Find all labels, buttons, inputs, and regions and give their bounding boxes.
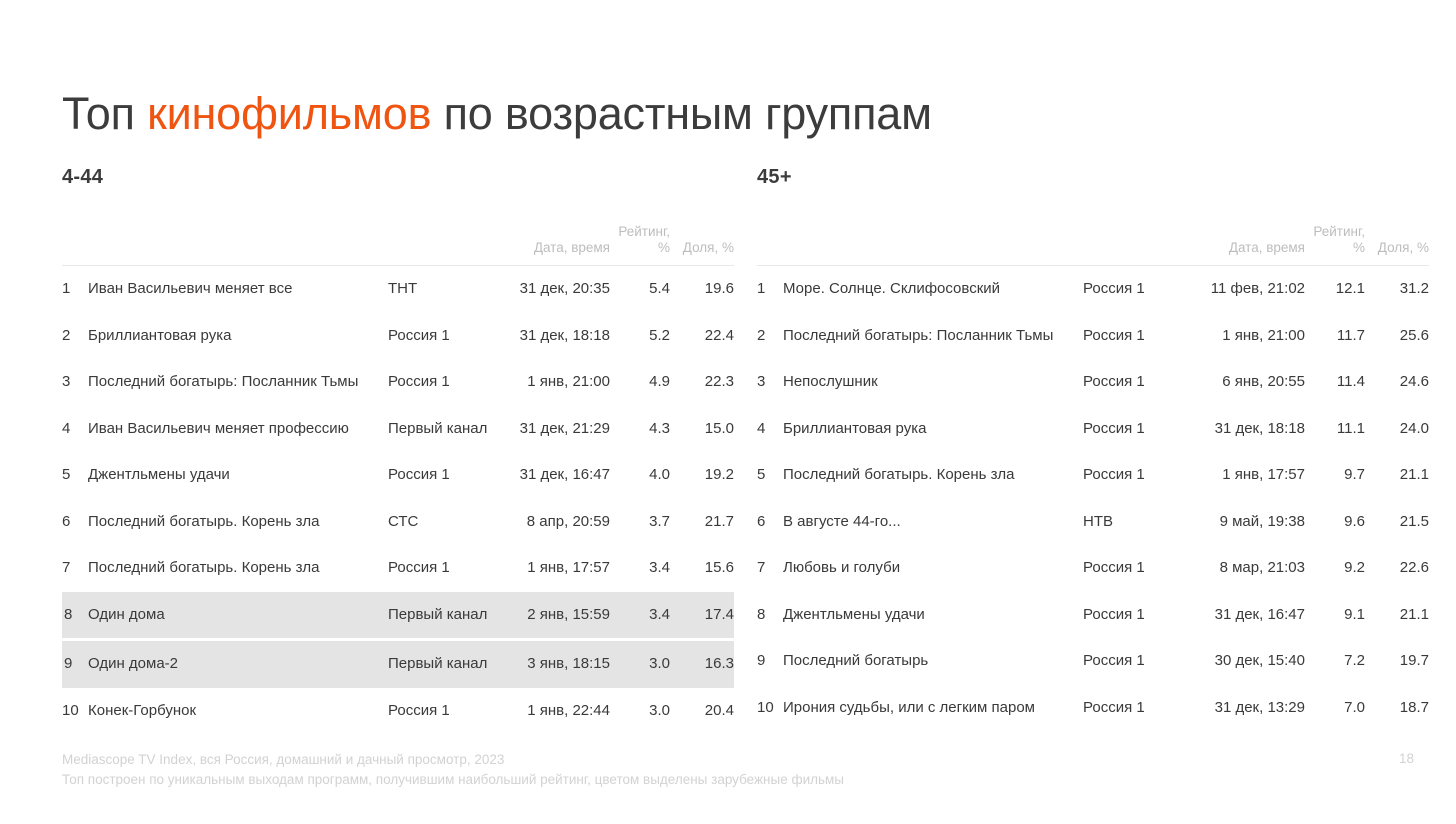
cell-rating: 4.0 (610, 452, 670, 499)
table-header: Дата, время Рейтинг, % Доля, % (62, 224, 734, 266)
cell-rank: 3 (62, 359, 88, 406)
group-label-4-44: 4-44 (62, 166, 720, 188)
cell-date: 31 дек, 18:18 (1201, 406, 1305, 453)
cell-channel: Россия 1 (388, 545, 506, 592)
cell-date: 31 дек, 21:29 (506, 406, 610, 453)
cell-program: Иван Васильевич меняет все (88, 266, 388, 313)
cell-rank: 10 (62, 688, 88, 735)
cell-share: 21.7 (670, 499, 734, 546)
col-header-rank (62, 224, 88, 266)
cell-program: Иван Васильевич меняет профессию (88, 406, 388, 453)
cell-rank: 6 (757, 499, 783, 546)
cell-rating: 7.2 (1305, 638, 1365, 685)
title-accent: кинофильмов (147, 88, 431, 139)
cell-program: Один дома (88, 592, 388, 640)
table-row[interactable]: 5Джентльмены удачиРоссия 131 дек, 16:474… (62, 452, 734, 499)
header-row: Дата, время Рейтинг, % Доля, % (757, 224, 1429, 266)
cell-share: 16.3 (670, 640, 734, 688)
cell-rank: 3 (757, 359, 783, 406)
cell-share: 17.4 (670, 592, 734, 640)
cell-share: 24.6 (1365, 359, 1429, 406)
cell-rank: 2 (62, 313, 88, 360)
top-table-4-44: Дата, время Рейтинг, % Доля, % 1Иван Вас… (62, 224, 734, 734)
cell-rank: 4 (62, 406, 88, 453)
cell-date: 11 фев, 21:02 (1201, 266, 1305, 313)
cell-share: 22.6 (1365, 545, 1429, 592)
col-header-share: Доля, % (670, 224, 734, 266)
table-row[interactable]: 2Бриллиантовая рукаРоссия 131 дек, 18:18… (62, 313, 734, 360)
header-row: Дата, время Рейтинг, % Доля, % (62, 224, 734, 266)
cell-share: 18.7 (1365, 685, 1429, 732)
cell-share: 19.2 (670, 452, 734, 499)
cell-date: 1 янв, 21:00 (1201, 313, 1305, 360)
cell-channel: НТВ (1083, 499, 1201, 546)
cell-channel: Россия 1 (1083, 638, 1201, 685)
table-row[interactable]: 4Иван Васильевич меняет профессиюПервый … (62, 406, 734, 453)
cell-date: 1 янв, 17:57 (1201, 452, 1305, 499)
table-row[interactable]: 1Иван Васильевич меняет всеТНТ31 дек, 20… (62, 266, 734, 313)
cell-channel: Россия 1 (1083, 592, 1201, 639)
cell-share: 24.0 (1365, 406, 1429, 453)
cell-rating: 11.1 (1305, 406, 1365, 453)
table-body: 1Иван Васильевич меняет всеТНТ31 дек, 20… (62, 266, 734, 735)
col-header-rank (757, 224, 783, 266)
cell-rating: 11.7 (1305, 313, 1365, 360)
cell-share: 21.1 (1365, 452, 1429, 499)
cell-date: 1 янв, 21:00 (506, 359, 610, 406)
table-row[interactable]: 6В августе 44-го...НТВ9 май, 19:389.621.… (757, 499, 1429, 546)
table-row[interactable]: 1Море. Солнце. СклифосовскийРоссия 111 ф… (757, 266, 1429, 313)
cell-date: 1 янв, 17:57 (506, 545, 610, 592)
cell-date: 31 дек, 16:47 (1201, 592, 1305, 639)
cell-rank: 9 (62, 640, 88, 688)
cell-rating: 3.4 (610, 545, 670, 592)
col-header-channel (388, 224, 506, 266)
cell-channel: Первый канал (388, 592, 506, 640)
table-row[interactable]: 9Один дома-2Первый канал3 янв, 18:153.01… (62, 640, 734, 688)
table-row[interactable]: 8Джентльмены удачиРоссия 131 дек, 16:479… (757, 592, 1429, 639)
table-row[interactable]: 8Один домаПервый канал2 янв, 15:593.417.… (62, 592, 734, 640)
cell-share: 31.2 (1365, 266, 1429, 313)
cell-share: 15.0 (670, 406, 734, 453)
top-table-45plus: Дата, время Рейтинг, % Доля, % 1Море. Со… (757, 224, 1429, 731)
cell-channel: Россия 1 (1083, 452, 1201, 499)
cell-program: Последний богатырь. Корень зла (88, 545, 388, 592)
cell-channel: Россия 1 (1083, 359, 1201, 406)
cell-share: 21.1 (1365, 592, 1429, 639)
cell-rank: 8 (62, 592, 88, 640)
col-header-program (783, 224, 1083, 266)
cell-program: Любовь и голуби (783, 545, 1083, 592)
cell-rating: 3.4 (610, 592, 670, 640)
cell-rating: 4.3 (610, 406, 670, 453)
table-row[interactable]: 7Любовь и голубиРоссия 18 мар, 21:039.22… (757, 545, 1429, 592)
table-row[interactable]: 3НепослушникРоссия 16 янв, 20:5511.424.6 (757, 359, 1429, 406)
cell-share: 19.6 (670, 266, 734, 313)
cell-rating: 9.6 (1305, 499, 1365, 546)
cell-rating: 3.0 (610, 688, 670, 735)
cell-program: Ирония судьбы, или с легким паром (783, 685, 1083, 732)
cell-share: 20.4 (670, 688, 734, 735)
cell-share: 22.4 (670, 313, 734, 360)
cell-program: Последний богатырь: Посланник Тьмы (88, 359, 388, 406)
cell-program: Последний богатырь (783, 638, 1083, 685)
cell-channel: СТС (388, 499, 506, 546)
cell-date: 30 дек, 15:40 (1201, 638, 1305, 685)
cell-program: Один дома-2 (88, 640, 388, 688)
cell-channel: Россия 1 (388, 452, 506, 499)
table-header: Дата, время Рейтинг, % Доля, % (757, 224, 1429, 266)
group-block-4-44: 4-44 Дата, время Рейтинг, % Доля, % 1Ива… (62, 166, 720, 734)
col-header-share: Доля, % (1365, 224, 1429, 266)
col-header-date: Дата, время (506, 224, 610, 266)
table-row[interactable]: 7Последний богатырь. Корень злаРоссия 11… (62, 545, 734, 592)
cell-date: 8 мар, 21:03 (1201, 545, 1305, 592)
col-header-rating: Рейтинг, % (610, 224, 670, 266)
cell-rank: 5 (757, 452, 783, 499)
cell-rank: 1 (62, 266, 88, 313)
footer-note: Mediascope TV Index, вся Россия, домашни… (62, 750, 844, 789)
cell-rank: 4 (757, 406, 783, 453)
col-header-rating-line2: % (1353, 240, 1365, 255)
table-row[interactable]: 10Ирония судьбы, или с легким паромРосси… (757, 685, 1429, 732)
cell-date: 31 дек, 13:29 (1201, 685, 1305, 732)
cell-share: 15.6 (670, 545, 734, 592)
cell-rating: 9.1 (1305, 592, 1365, 639)
table-row[interactable]: 5Последний богатырь. Корень злаРоссия 11… (757, 452, 1429, 499)
cell-channel: Россия 1 (388, 688, 506, 735)
table-row[interactable]: 2Последний богатырь: Посланник ТьмыРосси… (757, 313, 1429, 360)
cell-date: 31 дек, 20:35 (506, 266, 610, 313)
cell-date: 6 янв, 20:55 (1201, 359, 1305, 406)
cell-rank: 10 (757, 685, 783, 732)
col-header-rating-line1: Рейтинг, (1313, 224, 1365, 239)
title-after: по возрастным группам (431, 88, 932, 139)
table-body: 1Море. Солнце. СклифосовскийРоссия 111 ф… (757, 266, 1429, 732)
cell-channel: Россия 1 (1083, 406, 1201, 453)
cell-channel: Россия 1 (1083, 685, 1201, 732)
cell-date: 9 май, 19:38 (1201, 499, 1305, 546)
col-header-program (88, 224, 388, 266)
page-title: Топ кинофильмов по возрастным группам (62, 88, 932, 140)
cell-program: Последний богатырь. Корень зла (783, 452, 1083, 499)
cell-program: Джентльмены удачи (88, 452, 388, 499)
table-row[interactable]: 9Последний богатырьРоссия 130 дек, 15:40… (757, 638, 1429, 685)
group-label-45plus: 45+ (757, 166, 1415, 188)
cell-rating: 3.7 (610, 499, 670, 546)
cell-channel: Россия 1 (1083, 266, 1201, 313)
cell-rank: 8 (757, 592, 783, 639)
group-block-45plus: 45+ Дата, время Рейтинг, % Доля, % 1Море… (757, 166, 1415, 731)
title-before: Топ (62, 88, 147, 139)
cell-share: 25.6 (1365, 313, 1429, 360)
cell-rating: 5.4 (610, 266, 670, 313)
cell-rating: 3.0 (610, 640, 670, 688)
cell-date: 31 дек, 18:18 (506, 313, 610, 360)
col-header-rating-line1: Рейтинг, (618, 224, 670, 239)
col-header-channel (1083, 224, 1201, 266)
cell-rating: 12.1 (1305, 266, 1365, 313)
col-header-rating: Рейтинг, % (1305, 224, 1365, 266)
cell-channel: Первый канал (388, 406, 506, 453)
cell-rating: 11.4 (1305, 359, 1365, 406)
cell-share: 22.3 (670, 359, 734, 406)
cell-share: 21.5 (1365, 499, 1429, 546)
cell-rank: 6 (62, 499, 88, 546)
table-row[interactable]: 10Конек-ГорбунокРоссия 11 янв, 22:443.02… (62, 688, 734, 735)
cell-program: Последний богатырь: Посланник Тьмы (783, 313, 1083, 360)
footer-line-method: Топ построен по уникальным выходам прогр… (62, 770, 844, 790)
page-number: 18 (1399, 751, 1414, 766)
cell-channel: Первый канал (388, 640, 506, 688)
cell-date: 1 янв, 22:44 (506, 688, 610, 735)
cell-rating: 9.2 (1305, 545, 1365, 592)
cell-rating: 5.2 (610, 313, 670, 360)
cell-program: Последний богатырь. Корень зла (88, 499, 388, 546)
col-header-rating-line2: % (658, 240, 670, 255)
cell-program: Непослушник (783, 359, 1083, 406)
cell-rank: 9 (757, 638, 783, 685)
cell-channel: Россия 1 (388, 359, 506, 406)
cell-program: Бриллиантовая рука (88, 313, 388, 360)
cell-date: 3 янв, 18:15 (506, 640, 610, 688)
cell-channel: Россия 1 (1083, 313, 1201, 360)
cell-date: 2 янв, 15:59 (506, 592, 610, 640)
table-row[interactable]: 4Бриллиантовая рукаРоссия 131 дек, 18:18… (757, 406, 1429, 453)
cell-program: Конек-Горбунок (88, 688, 388, 735)
slide: Топ кинофильмов по возрастным группам 4-… (0, 0, 1456, 824)
cell-program: Море. Солнце. Склифосовский (783, 266, 1083, 313)
cell-channel: ТНТ (388, 266, 506, 313)
cell-program: Бриллиантовая рука (783, 406, 1083, 453)
cell-program: Джентльмены удачи (783, 592, 1083, 639)
cell-program: В августе 44-го... (783, 499, 1083, 546)
cell-date: 31 дек, 16:47 (506, 452, 610, 499)
cell-rank: 2 (757, 313, 783, 360)
cell-channel: Россия 1 (388, 313, 506, 360)
cell-share: 19.7 (1365, 638, 1429, 685)
cell-rank: 5 (62, 452, 88, 499)
cell-rating: 7.0 (1305, 685, 1365, 732)
cell-channel: Россия 1 (1083, 545, 1201, 592)
cell-date: 8 апр, 20:59 (506, 499, 610, 546)
cell-rank: 7 (757, 545, 783, 592)
cell-rating: 9.7 (1305, 452, 1365, 499)
cell-rank: 7 (62, 545, 88, 592)
cell-rank: 1 (757, 266, 783, 313)
cell-rating: 4.9 (610, 359, 670, 406)
table-row[interactable]: 6Последний богатырь. Корень злаСТС8 апр,… (62, 499, 734, 546)
table-row[interactable]: 3Последний богатырь: Посланник ТьмыРосси… (62, 359, 734, 406)
footer-line-source: Mediascope TV Index, вся Россия, домашни… (62, 750, 844, 770)
col-header-date: Дата, время (1201, 224, 1305, 266)
